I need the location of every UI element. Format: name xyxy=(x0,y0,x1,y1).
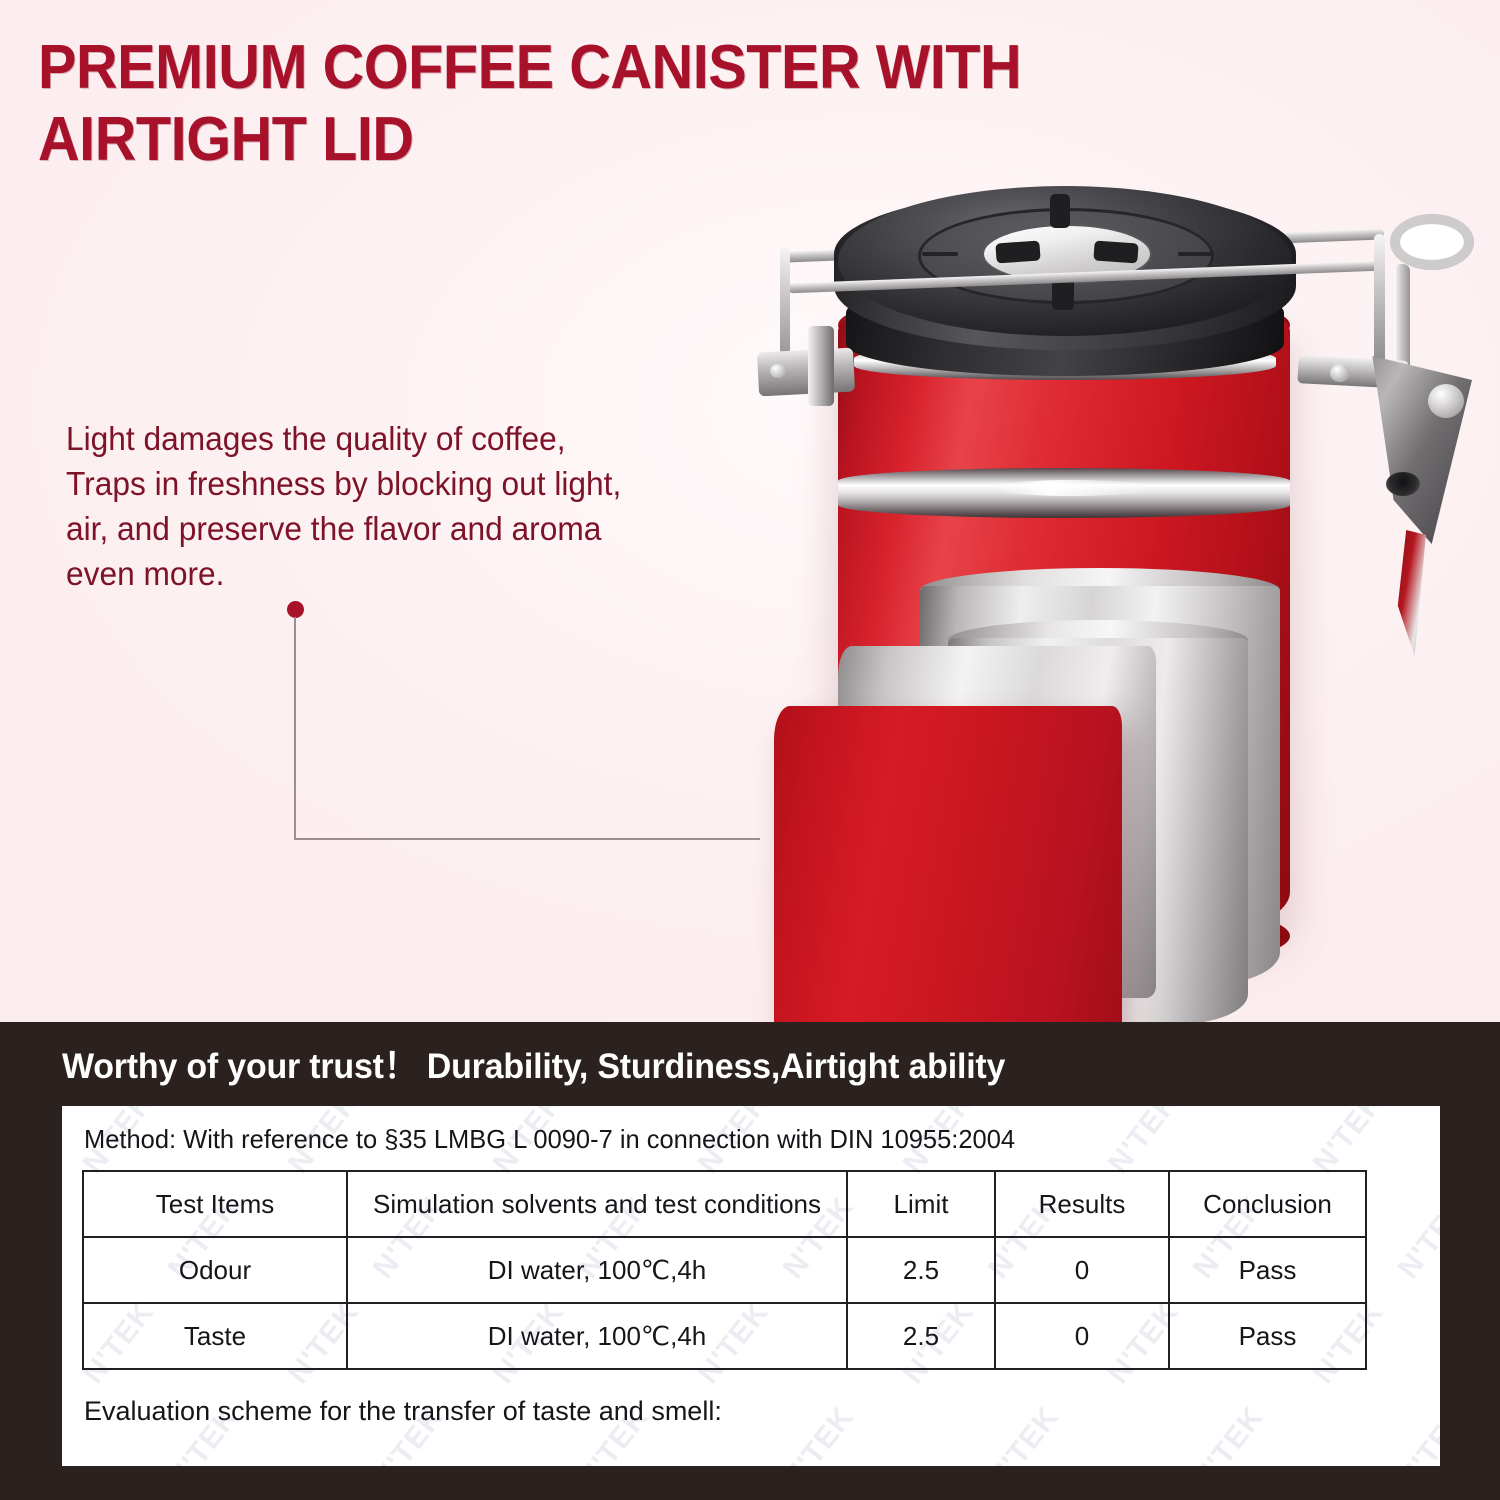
report-method-line: Method: With reference to §35 LMBG L 009… xyxy=(84,1124,1015,1155)
callout-leader-horizontal xyxy=(294,838,760,840)
chrome-band-highlight xyxy=(992,480,1152,496)
bail-wire-right xyxy=(1374,234,1385,364)
table-row: Odour DI water, 100℃,4h 2.5 0 Pass xyxy=(83,1237,1366,1303)
trust-heading: Worthy of your trust！ Durability, Sturdi… xyxy=(62,1038,1362,1089)
product-infographic-page: PREMIUM COFFEE CANISTER WITH AIRTIGHT LI… xyxy=(0,0,1500,1500)
lid-dash-left xyxy=(922,252,958,256)
page-title: PREMIUM COFFEE CANISTER WITH AIRTIGHT LI… xyxy=(38,32,1210,176)
cell-results: 0 xyxy=(995,1303,1169,1369)
table-row: Taste DI water, 100℃,4h 2.5 0 Pass xyxy=(83,1303,1366,1369)
latch-arm-rivet xyxy=(1330,364,1350,382)
latch-tail xyxy=(1396,530,1426,656)
cell-conclusion: Pass xyxy=(1169,1237,1366,1303)
lid-grip-tab-top xyxy=(1050,194,1070,228)
column-header-limit: Limit xyxy=(847,1171,995,1237)
watermark-text: N'TEK xyxy=(777,1401,862,1466)
test-results-table: Test Items Simulation solvents and test … xyxy=(82,1170,1367,1370)
cell-results: 0 xyxy=(995,1237,1169,1303)
lid-grip-tab-left xyxy=(995,240,1040,263)
callout-dot xyxy=(287,601,304,618)
cell-conclusion: Pass xyxy=(1169,1303,1366,1369)
latch-pivot-hole xyxy=(1386,472,1420,496)
clamp-tab-left xyxy=(808,326,834,406)
red-outer-panel-layer xyxy=(774,706,1122,1022)
watermark-text: N'TEK xyxy=(982,1401,1067,1466)
coffee-canister-illustration xyxy=(742,168,1500,998)
cell-limit: 2.5 xyxy=(847,1303,995,1369)
bail-ring-icon xyxy=(1390,214,1474,270)
callout-leader-vertical xyxy=(294,617,296,839)
cell-conditions: DI water, 100℃,4h xyxy=(347,1237,847,1303)
hero-section: PREMIUM COFFEE CANISTER WITH AIRTIGHT LI… xyxy=(0,0,1500,1022)
cell-conditions: DI water, 100℃,4h xyxy=(347,1303,847,1369)
cell-test-item: Odour xyxy=(83,1237,347,1303)
feature-description: Light damages the quality of coffee, Tra… xyxy=(66,416,623,596)
column-header-results: Results xyxy=(995,1171,1169,1237)
cell-limit: 2.5 xyxy=(847,1237,995,1303)
watermark-text: N'TEK xyxy=(1187,1401,1272,1466)
column-header-conditions: Simulation solvents and test conditions xyxy=(347,1171,847,1237)
latch-stud xyxy=(1428,384,1464,418)
column-header-test-items: Test Items xyxy=(83,1171,347,1237)
clamp-rivet-left xyxy=(770,364,786,378)
watermark-text: N'TEK xyxy=(1392,1401,1440,1466)
report-evaluation-note: Evaluation scheme for the transfer of ta… xyxy=(84,1396,722,1427)
test-report-card: N'TEKN'TEKN'TEKN'TEKN'TEKN'TEKN'TEKN'TEK… xyxy=(62,1106,1440,1466)
column-header-conclusion: Conclusion xyxy=(1169,1171,1366,1237)
lid-grip-tab-right xyxy=(1093,240,1138,263)
watermark-text: N'TEK xyxy=(1392,1191,1440,1286)
table-header-row: Test Items Simulation solvents and test … xyxy=(83,1171,1366,1237)
latch-lever xyxy=(1366,344,1472,544)
cell-test-item: Taste xyxy=(83,1303,347,1369)
lid-dash-right xyxy=(1178,252,1214,256)
